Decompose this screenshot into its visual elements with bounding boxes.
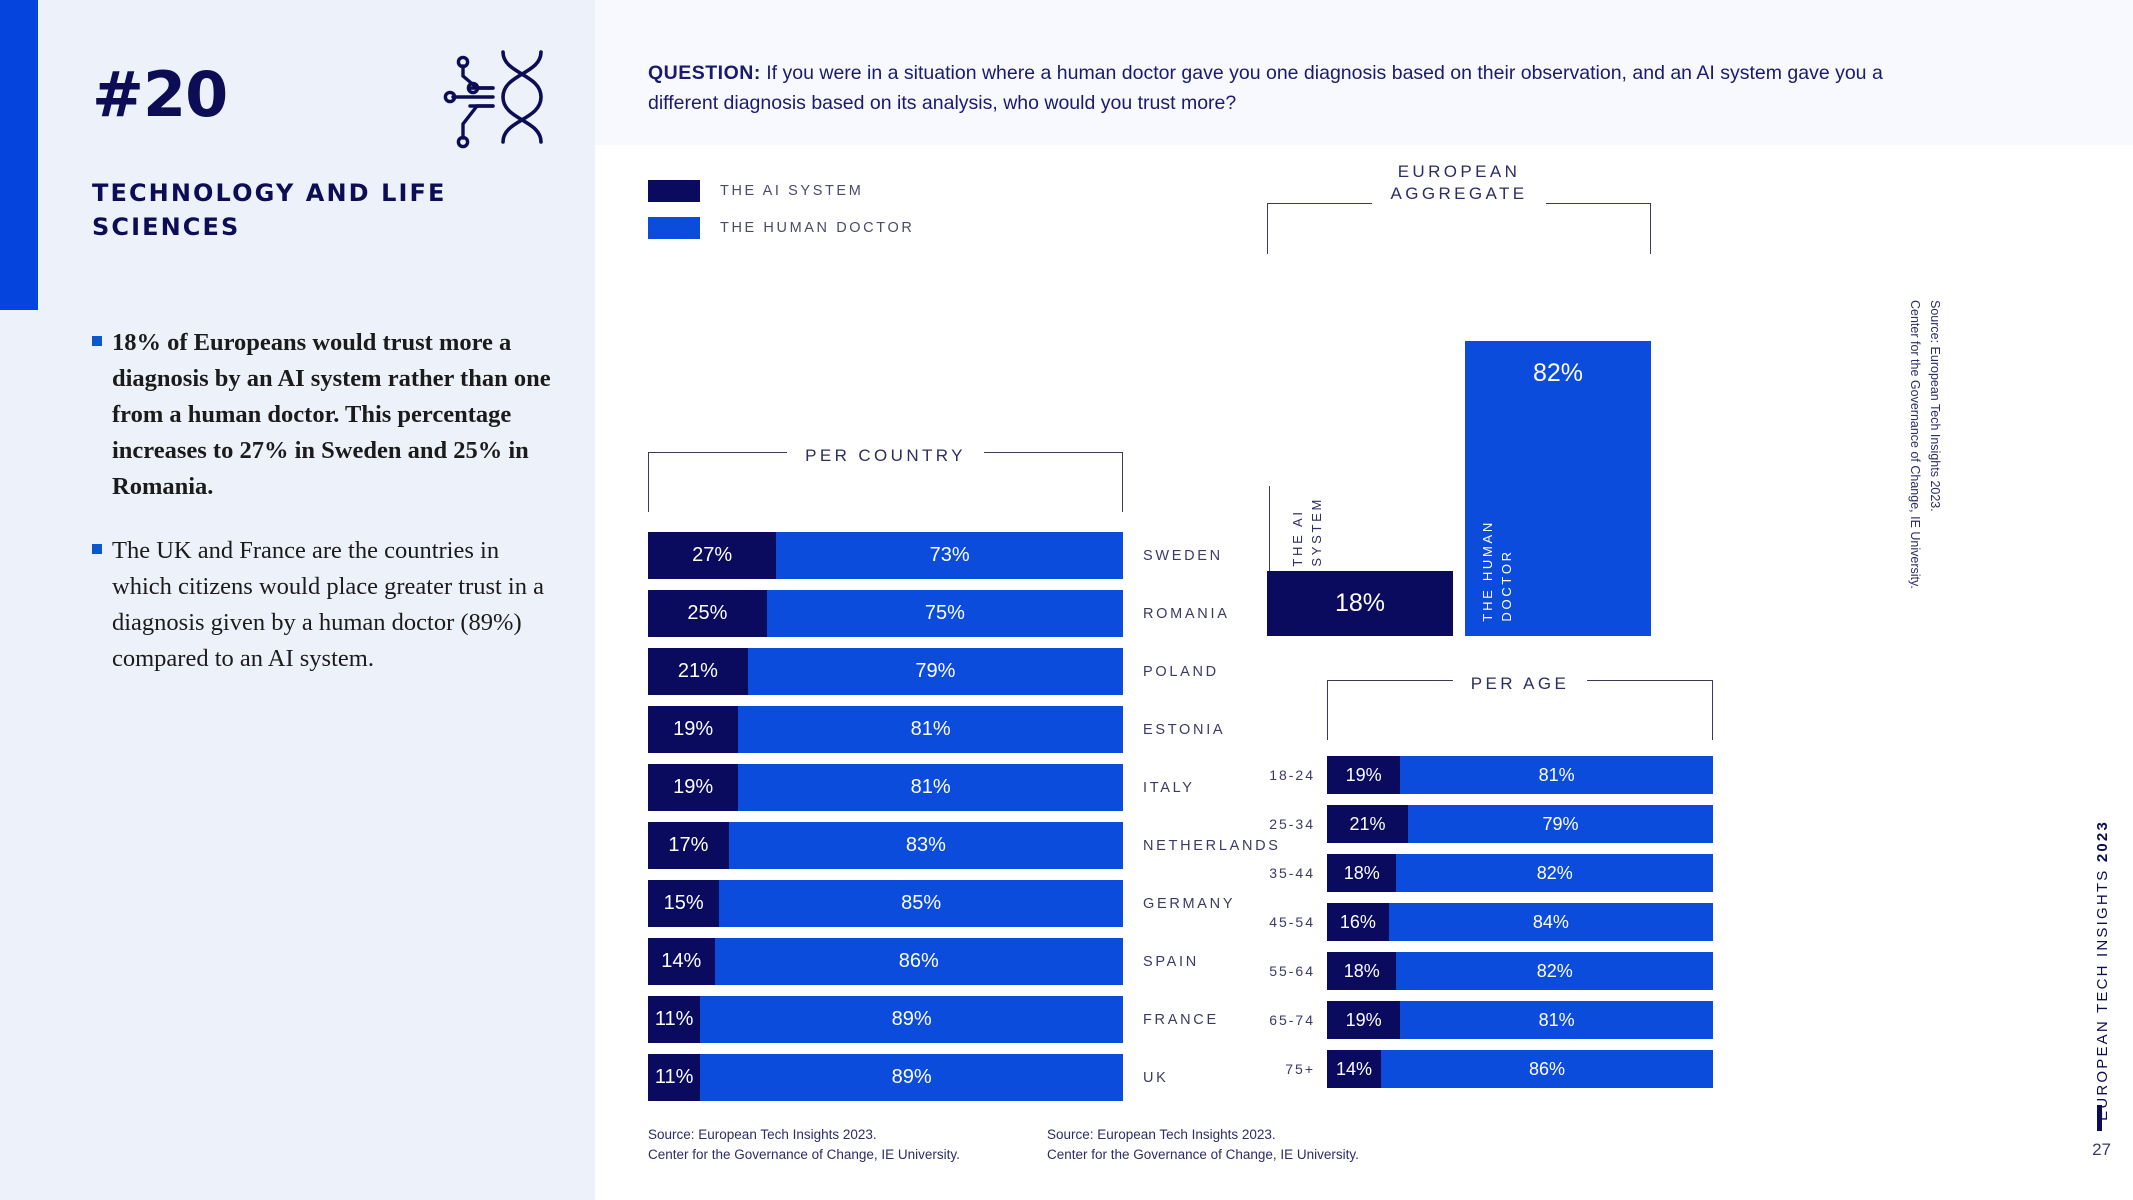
bar-row: 65-7419%81%	[1327, 1001, 1713, 1039]
bar-row-label: 55-64	[1235, 952, 1315, 990]
bar-segment-human-doctor: 81%	[1400, 756, 1713, 794]
aggregate-plot-area: 18% THE AI SYSTEM 82% THE HUMAN DOCTOR	[1267, 276, 1651, 636]
aggregate-label-ai-system: THE AI SYSTEM	[1289, 497, 1327, 567]
report-rail-text: EUROPEAN TECH INSIGHTS 2023	[2094, 820, 2111, 1121]
bar-segment-ai-system: 25%	[648, 590, 767, 637]
aggregate-value-human-doctor: 82%	[1465, 359, 1651, 388]
bar-segment-ai-system: 11%	[648, 1054, 700, 1101]
european-aggregate-title: EUROPEAN AGGREGATE	[1372, 161, 1545, 205]
bullet-item: 18% of Europeans would trust more a diag…	[92, 325, 557, 505]
bracket-left-rule	[648, 452, 787, 512]
bracket-left-rule	[1327, 680, 1453, 740]
bar-segment-ai-system: 19%	[1327, 756, 1400, 794]
bar-row: 35-4418%82%	[1327, 854, 1713, 892]
bar-segment-human-doctor: 73%	[776, 532, 1123, 579]
bar-segment-ai-system: 16%	[1327, 903, 1389, 941]
bar-row: 27%73%SWEDEN	[648, 532, 1123, 579]
bar-segment-ai-system: 11%	[648, 996, 700, 1043]
bar-row-label: 18-24	[1235, 756, 1315, 794]
legend-label: THE AI SYSTEM	[720, 183, 863, 199]
sidebar: #20 TECHNOLOGY AND LIFE SCIENCES 18% of …	[0, 0, 595, 1200]
bar-segment-ai-system: 27%	[648, 532, 776, 579]
bar-segment-human-doctor: 83%	[729, 822, 1123, 869]
bar-row: 19%81%ITALY	[648, 764, 1123, 811]
question-label: QUESTION:	[648, 62, 761, 84]
bar-segment-human-doctor: 81%	[738, 764, 1123, 811]
main-content: QUESTION: If you were in a situation whe…	[595, 0, 2133, 1200]
bar-row: 17%83%NETHERLANDS	[648, 822, 1123, 869]
bar-row-label: 65-74	[1235, 1001, 1315, 1039]
legend-swatch-ai-system	[648, 180, 700, 202]
bar-row: 18-2419%81%	[1327, 756, 1713, 794]
legend-swatch-human-doctor	[648, 217, 700, 239]
bar-segment-human-doctor: 86%	[715, 938, 1124, 985]
bar-segment-human-doctor: 89%	[700, 1054, 1123, 1101]
rail-divider	[2097, 1105, 2102, 1131]
bar-row: 19%81%ESTONIA	[648, 706, 1123, 753]
bar-row-label: FRANCE	[1143, 996, 1219, 1043]
per-age-source-note: Source: European Tech Insights 2023. Cen…	[1047, 1125, 1359, 1166]
aggregate-bar-human-doctor: 82% THE HUMAN DOCTOR	[1465, 341, 1651, 636]
aggregate-label-human-doctor: THE HUMAN DOCTOR	[1479, 520, 1517, 622]
bar-segment-ai-system: 17%	[648, 822, 729, 869]
bar-segment-ai-system: 19%	[648, 764, 738, 811]
bar-row-label: SPAIN	[1143, 938, 1199, 985]
bar-row: 75+14%86%	[1327, 1050, 1713, 1088]
bar-segment-ai-system: 18%	[1327, 854, 1396, 892]
legend-item-ai-system: THE AI SYSTEM	[648, 180, 914, 202]
question-text: QUESTION: If you were in a situation whe…	[648, 58, 1938, 118]
legend-item-human-doctor: THE HUMAN DOCTOR	[648, 217, 914, 239]
bar-row-label: ITALY	[1143, 764, 1195, 811]
question-body: If you were in a situation where a human…	[648, 62, 1883, 114]
bar-row: 11%89%UK	[648, 1054, 1123, 1101]
report-name: EUROPEAN TECH INSIGHTS	[2094, 862, 2111, 1121]
legend-label: THE HUMAN DOCTOR	[720, 220, 914, 236]
dna-circuit-icon	[437, 42, 555, 152]
bullet-item: The UK and France are the countries in w…	[92, 533, 557, 677]
bullet-list: 18% of Europeans would trust more a diag…	[92, 325, 557, 705]
bar-segment-human-doctor: 79%	[748, 648, 1123, 695]
bar-segment-ai-system: 14%	[648, 938, 715, 985]
bar-segment-ai-system: 21%	[648, 648, 748, 695]
bar-segment-ai-system: 14%	[1327, 1050, 1381, 1088]
bar-row-label: ESTONIA	[1143, 706, 1225, 753]
aggregate-bar-ai-system: 18% THE AI SYSTEM	[1267, 571, 1453, 636]
per-country-title: PER COUNTRY	[787, 445, 984, 467]
section-title: TECHNOLOGY AND LIFE SCIENCES	[92, 176, 492, 244]
bracket-right-rule	[1587, 680, 1713, 740]
page-number: 27	[2092, 1140, 2111, 1160]
bar-segment-human-doctor: 86%	[1381, 1050, 1713, 1088]
bar-segment-human-doctor: 81%	[738, 706, 1123, 753]
aggregate-ai-tick	[1269, 486, 1270, 571]
per-age-bars: 18-2419%81%25-3421%79%35-4418%82%45-5416…	[1327, 756, 1713, 1099]
bar-segment-human-doctor: 79%	[1408, 805, 1713, 843]
bar-row-label: POLAND	[1143, 648, 1219, 695]
bar-segment-human-doctor: 81%	[1400, 1001, 1713, 1039]
slide-number: #20	[92, 58, 227, 131]
accent-bar	[0, 0, 38, 310]
bar-row-label: UK	[1143, 1054, 1169, 1101]
bar-segment-ai-system: 18%	[1327, 952, 1396, 990]
bar-segment-ai-system: 19%	[648, 706, 738, 753]
vertical-source-note: Source: European Tech Insights 2023. Cen…	[1905, 300, 1945, 589]
european-aggregate-chart: EUROPEAN AGGREGATE 18% THE AI SYSTEM 82%…	[1267, 168, 1707, 636]
bar-segment-human-doctor: 84%	[1389, 903, 1713, 941]
bar-segment-ai-system: 19%	[1327, 1001, 1400, 1039]
bar-segment-human-doctor: 82%	[1396, 952, 1713, 990]
bar-row-label: 75+	[1235, 1050, 1315, 1088]
bar-segment-ai-system: 21%	[1327, 805, 1408, 843]
bar-segment-human-doctor: 85%	[719, 880, 1123, 927]
bar-row-label: 25-34	[1235, 805, 1315, 843]
bar-segment-human-doctor: 82%	[1396, 854, 1713, 892]
bar-row-label: 45-54	[1235, 903, 1315, 941]
bracket-right-rule	[984, 452, 1123, 512]
bracket-right-rule	[1546, 203, 1651, 254]
report-year: 2023	[2094, 820, 2111, 862]
bracket-left-rule	[1267, 203, 1372, 254]
chart-legend: THE AI SYSTEM THE HUMAN DOCTOR	[648, 180, 914, 254]
bar-row: 14%86%SPAIN	[648, 938, 1123, 985]
bar-segment-human-doctor: 89%	[700, 996, 1123, 1043]
bar-row: 25%75%ROMANIA	[648, 590, 1123, 637]
per-country-bracket: PER COUNTRY	[648, 452, 1123, 512]
bar-row-label: GERMANY	[1143, 880, 1235, 927]
bar-row: 45-5416%84%	[1327, 903, 1713, 941]
bar-row: 25-3421%79%	[1327, 805, 1713, 843]
bar-segment-ai-system: 15%	[648, 880, 719, 927]
bar-row-label: 35-44	[1235, 854, 1315, 892]
european-aggregate-bracket: EUROPEAN AGGREGATE	[1267, 168, 1651, 254]
per-country-chart: 27%73%SWEDEN25%75%ROMANIA21%79%POLAND19%…	[648, 532, 1123, 1112]
bar-row-label: SWEDEN	[1143, 532, 1223, 579]
per-age-bracket: PER AGE	[1327, 680, 1713, 740]
bar-row: 55-6418%82%	[1327, 952, 1713, 990]
bar-row: 15%85%GERMANY	[648, 880, 1123, 927]
per-age-title: PER AGE	[1453, 673, 1587, 695]
bar-row-label: ROMANIA	[1143, 590, 1230, 637]
bar-row: 21%79%POLAND	[648, 648, 1123, 695]
bar-segment-human-doctor: 75%	[767, 590, 1123, 637]
aggregate-value-ai-system: 18%	[1267, 589, 1453, 618]
per-country-source-note: Source: European Tech Insights 2023. Cen…	[648, 1125, 960, 1166]
bar-row: 11%89%FRANCE	[648, 996, 1123, 1043]
